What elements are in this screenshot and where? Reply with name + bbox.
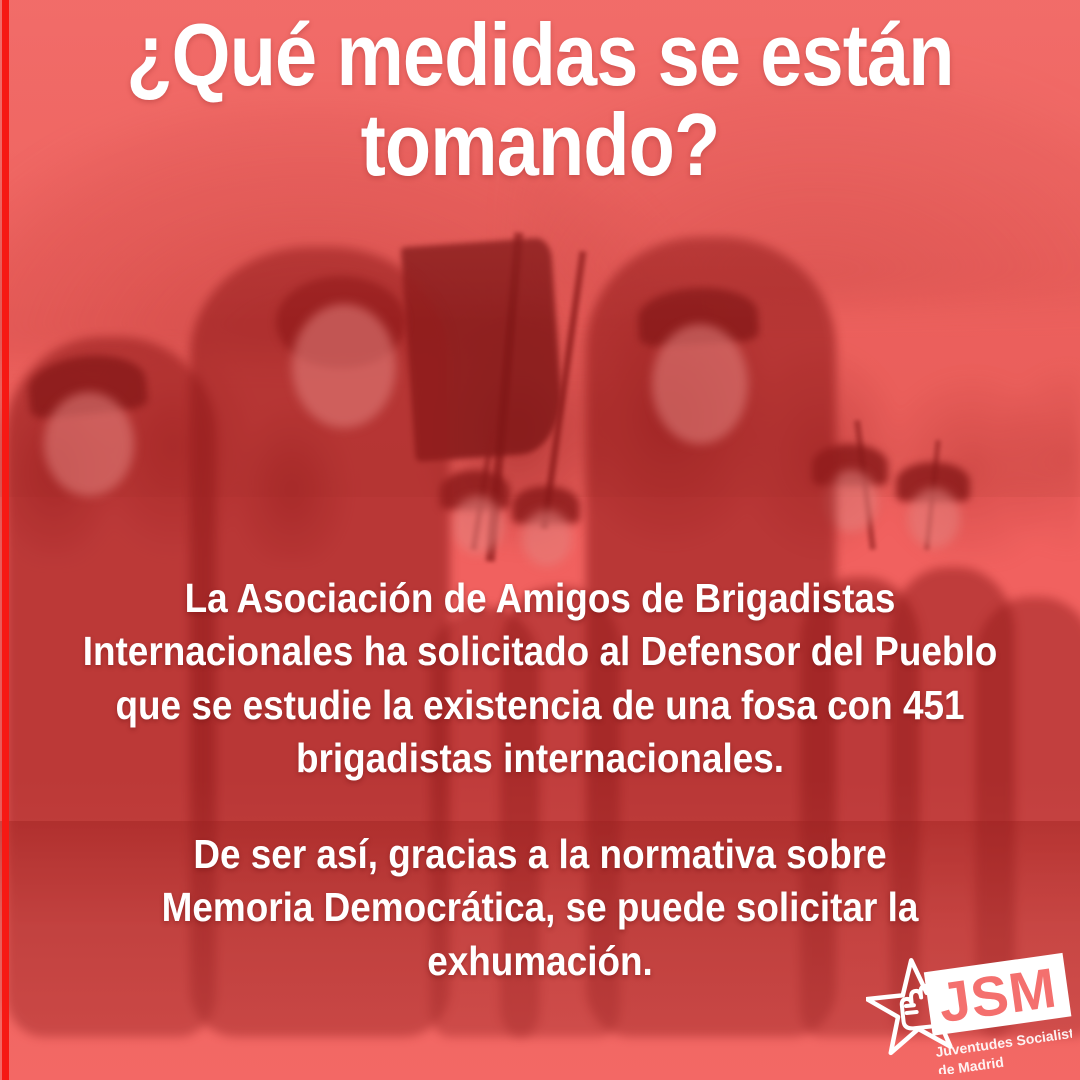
body-paragraph-1: La Asociación de Amigos de Brigadistas I…	[54, 572, 1026, 785]
left-accent-stripe	[2, 0, 9, 1080]
jsm-wordmark: JSM	[924, 953, 1072, 1036]
poster-canvas: ¿Qué medidas se están tomando? La Asocia…	[0, 0, 1080, 1080]
page-title: ¿Qué medidas se están tomando?	[76, 10, 1005, 190]
jsm-logo: JSM Juventudes Socialistas de Madrid	[866, 952, 1072, 1074]
jsm-acronym: JSM	[935, 955, 1061, 1034]
